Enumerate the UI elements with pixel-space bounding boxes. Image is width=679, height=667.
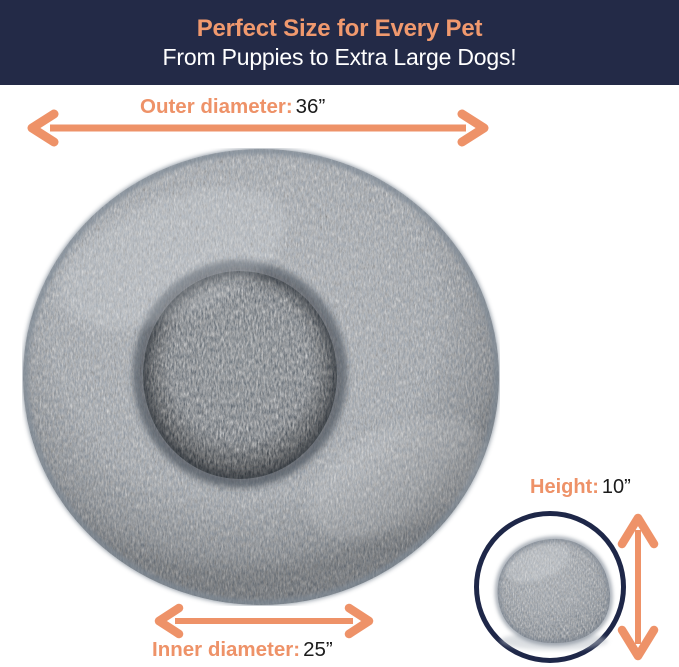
- page-subtitle: From Puppies to Extra Large Dogs!: [163, 44, 517, 71]
- inner-diameter-value: 25”: [303, 638, 333, 661]
- page-title: Perfect Size for Every Pet: [197, 16, 483, 43]
- inner-diameter-caption: Inner diameter:25”: [152, 640, 333, 661]
- outer-diameter-arrow-icon: [28, 112, 488, 144]
- pet-bed-side-illustration: [480, 525, 622, 653]
- pet-bed-side-view-inset: [474, 511, 626, 663]
- inner-diameter-label: Inner diameter:: [152, 638, 300, 661]
- header-banner: Perfect Size for Every Pet From Puppies …: [0, 0, 679, 85]
- pet-bed-top-view-image: [22, 148, 500, 606]
- inner-diameter-arrow-icon: [155, 606, 373, 636]
- height-arrow-icon: [612, 512, 664, 662]
- height-value: 10”: [602, 476, 631, 498]
- pet-bed-side-view-image: [480, 525, 622, 653]
- height-caption: Height:10”: [530, 477, 631, 497]
- pet-bed-illustration: [22, 148, 500, 606]
- height-label: Height:: [530, 476, 599, 498]
